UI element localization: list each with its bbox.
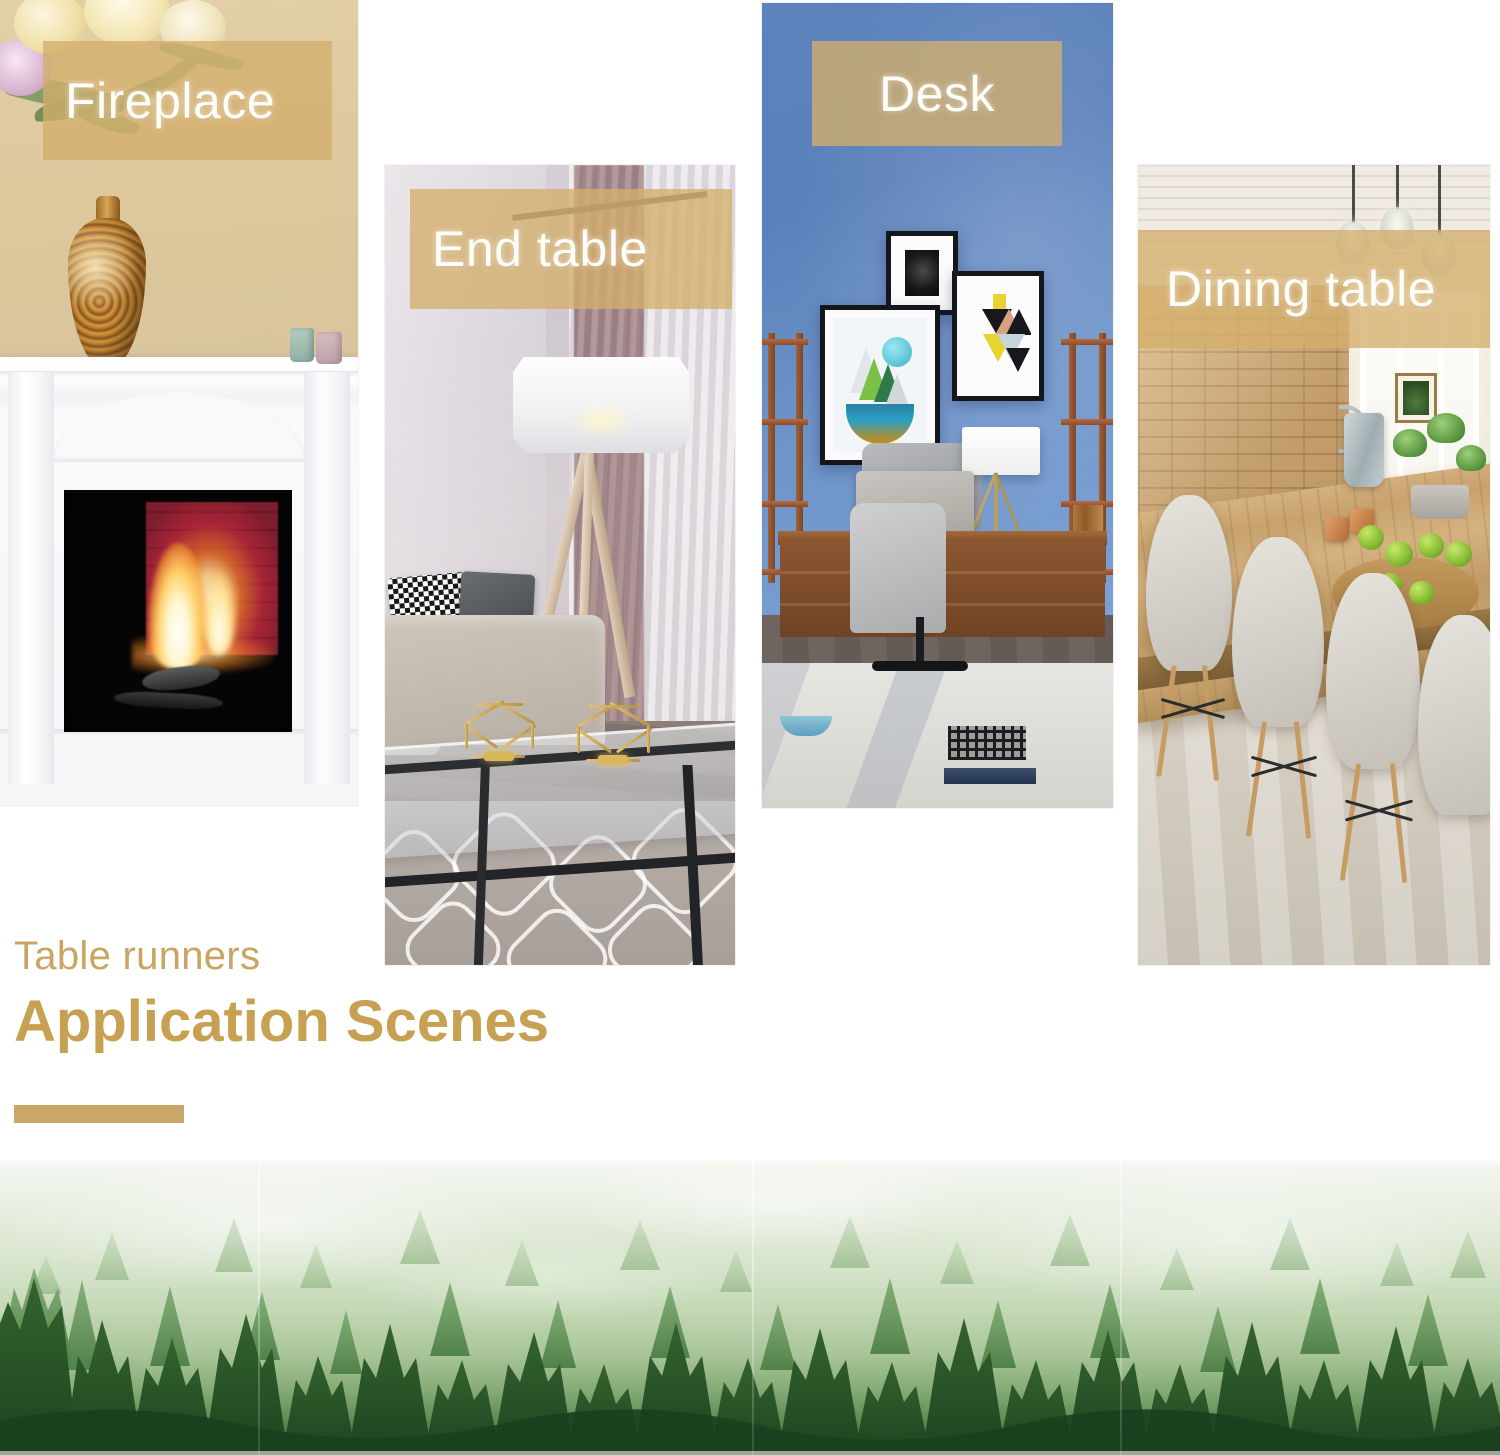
runner-seam-right xyxy=(1120,1160,1122,1455)
fire-log-bottom xyxy=(114,690,224,710)
gold-accent-rule xyxy=(14,1105,184,1123)
dining-chair-2-legs xyxy=(1242,721,1322,845)
scene-panel-end-table: End table xyxy=(385,165,735,965)
scene-panel-dining-table: Dining table xyxy=(1138,165,1490,965)
succulent-1 xyxy=(1393,429,1427,457)
copper-mug-1 xyxy=(1325,517,1349,541)
apple-6 xyxy=(1409,581,1434,605)
lamp-shade xyxy=(513,357,689,453)
dining-chair-1-legs xyxy=(1154,665,1230,785)
succulent-2 xyxy=(1427,413,1465,443)
caption-label-fireplace: Fireplace xyxy=(65,72,275,130)
dining-chair-1 xyxy=(1146,495,1232,671)
caption-label-dining-table: Dining table xyxy=(1166,260,1436,318)
succulent-3 xyxy=(1456,445,1486,471)
headline-title: Application Scenes xyxy=(14,992,549,1053)
runner-seam-left xyxy=(258,1160,260,1455)
framed-wall-art xyxy=(1395,373,1437,423)
framed-art-mountain-lake xyxy=(820,305,940,465)
office-chair-base xyxy=(872,597,968,671)
votive-glass-green xyxy=(290,328,314,362)
gold-geometric-candle-holder-1 xyxy=(459,697,539,769)
firebox xyxy=(64,490,292,732)
headline-block: Table runners Application Scenes xyxy=(14,936,549,1053)
caption-plate-dining-table: Dining table xyxy=(1138,230,1490,348)
desk-lamp-shade xyxy=(962,427,1040,475)
pendant-cord-2 xyxy=(1396,165,1399,209)
mantel-pillar-left xyxy=(8,372,54,784)
succulent-pot xyxy=(1411,485,1469,519)
apple-2 xyxy=(1385,541,1413,567)
caption-plate-end-table: End table xyxy=(410,189,732,309)
scene-panel-fireplace: Fireplace xyxy=(0,0,358,806)
caption-plate-desk: Desk xyxy=(812,41,1062,146)
runner-edge-top xyxy=(0,1160,1500,1164)
candle-1 xyxy=(484,751,514,761)
votive-glass-pink xyxy=(316,332,342,364)
gold-geometric-candle-holder-2 xyxy=(571,699,655,773)
candle-2 xyxy=(598,755,628,765)
dining-chair-2 xyxy=(1232,537,1324,727)
caption-label-end-table: End table xyxy=(432,220,648,278)
scene-panel-desk: Desk xyxy=(762,3,1113,808)
stacked-books xyxy=(944,768,1036,784)
flame-secondary xyxy=(201,572,237,654)
runner-seam-mid xyxy=(752,1160,754,1455)
mantel-pillar-right xyxy=(304,372,350,784)
framed-art-geometric xyxy=(952,271,1044,401)
headline-kicker: Table runners xyxy=(14,936,549,976)
galvanized-pitcher xyxy=(1344,413,1384,487)
dining-chair-3-legs xyxy=(1336,763,1418,889)
runner-edge-bottom xyxy=(0,1451,1500,1455)
forest-tree-silhouettes xyxy=(0,1160,1500,1455)
marketing-image-canvas: Fireplace xyxy=(0,0,1500,1455)
table-runner-product-image xyxy=(0,1160,1500,1455)
caption-label-desk: Desk xyxy=(879,65,995,123)
caption-plate-fireplace: Fireplace xyxy=(43,41,332,160)
wire-basket xyxy=(948,726,1026,760)
framed-art-small xyxy=(886,231,958,315)
pendant-cord-1 xyxy=(1352,165,1355,223)
pendant-cord-3 xyxy=(1438,165,1441,235)
dining-chair-3 xyxy=(1326,573,1420,769)
